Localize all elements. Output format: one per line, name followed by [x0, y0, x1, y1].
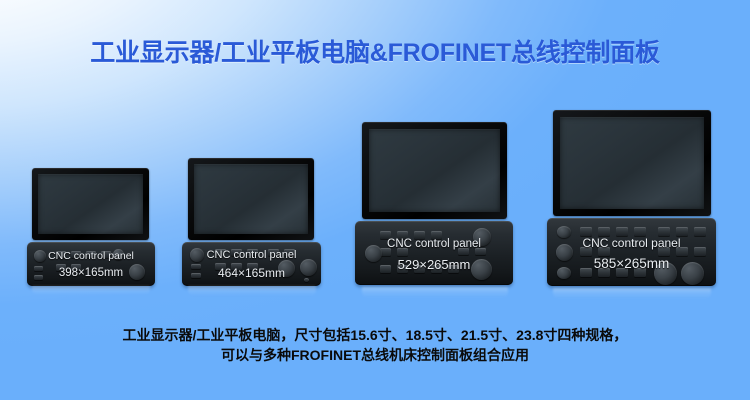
- device-4-screen: [560, 117, 704, 209]
- device-2-screen: [194, 164, 308, 234]
- device-4-button[interactable]: [694, 227, 706, 236]
- device-4-button[interactable]: [580, 227, 592, 236]
- device-4-panel-label: CNC control panel: [547, 236, 716, 250]
- caption-line-1: 工业显示器/工业平板电脑，尺寸包括15.6寸、18.5寸、21.5寸、23.8寸…: [0, 325, 750, 345]
- device-4-size-label: 585×265mm: [547, 256, 716, 271]
- device-4-button[interactable]: [598, 227, 610, 236]
- device-3-monitor: [362, 122, 507, 219]
- device-4-reflection: [553, 288, 711, 299]
- device-4-button[interactable]: [634, 227, 646, 236]
- device-1-control-panel[interactable]: CNC control panel 398×165mm: [27, 242, 155, 286]
- device-3-control-panel[interactable]: CNC control panel 529×265mm: [355, 221, 513, 285]
- device-1-monitor: [32, 168, 149, 240]
- caption-line-2: 可以与多种FROFINET总线机床控制面板组合应用: [0, 345, 750, 365]
- page-title: 工业显示器/工业平板电脑&FROFINET总线控制面板: [0, 33, 750, 69]
- device-2-panel-label: CNC control panel: [182, 249, 321, 261]
- device-1-reflection: [32, 286, 150, 295]
- device-3-reflection: [362, 287, 508, 298]
- product-banner: 工业显示器/工业平板电脑&FROFINET总线控制面板 CNC control …: [0, 0, 750, 400]
- device-3-size-label: 529×265mm: [355, 257, 513, 272]
- device-3: CNC control panel 529×265mm: [362, 122, 513, 285]
- device-1-size-label: 398×165mm: [27, 267, 155, 279]
- device-4-button[interactable]: [658, 227, 670, 236]
- device-1-screen: [38, 174, 143, 234]
- device-1: CNC control panel 398×165mm: [32, 168, 155, 286]
- device-4: CNC control panel 585×265mm: [553, 110, 716, 286]
- device-4-control-panel[interactable]: CNC control panel 585×265mm: [547, 218, 716, 286]
- device-3-screen: [369, 129, 500, 212]
- device-1-panel-label: CNC control panel: [27, 250, 155, 262]
- device-4-button[interactable]: [676, 227, 688, 236]
- device-4-monitor: [553, 110, 711, 216]
- device-2-reflection: [188, 286, 316, 296]
- device-2: CNC control panel 464×165mm: [188, 158, 321, 286]
- device-3-panel-label: CNC control panel: [355, 238, 513, 250]
- caption-block: 工业显示器/工业平板电脑，尺寸包括15.6寸、18.5寸、21.5寸、23.8寸…: [0, 325, 750, 365]
- device-2-control-panel[interactable]: CNC control panel 464×165mm: [182, 242, 321, 286]
- device-4-button[interactable]: [616, 227, 628, 236]
- device-2-size-label: 464×165mm: [182, 266, 321, 280]
- device-2-monitor: [188, 158, 314, 240]
